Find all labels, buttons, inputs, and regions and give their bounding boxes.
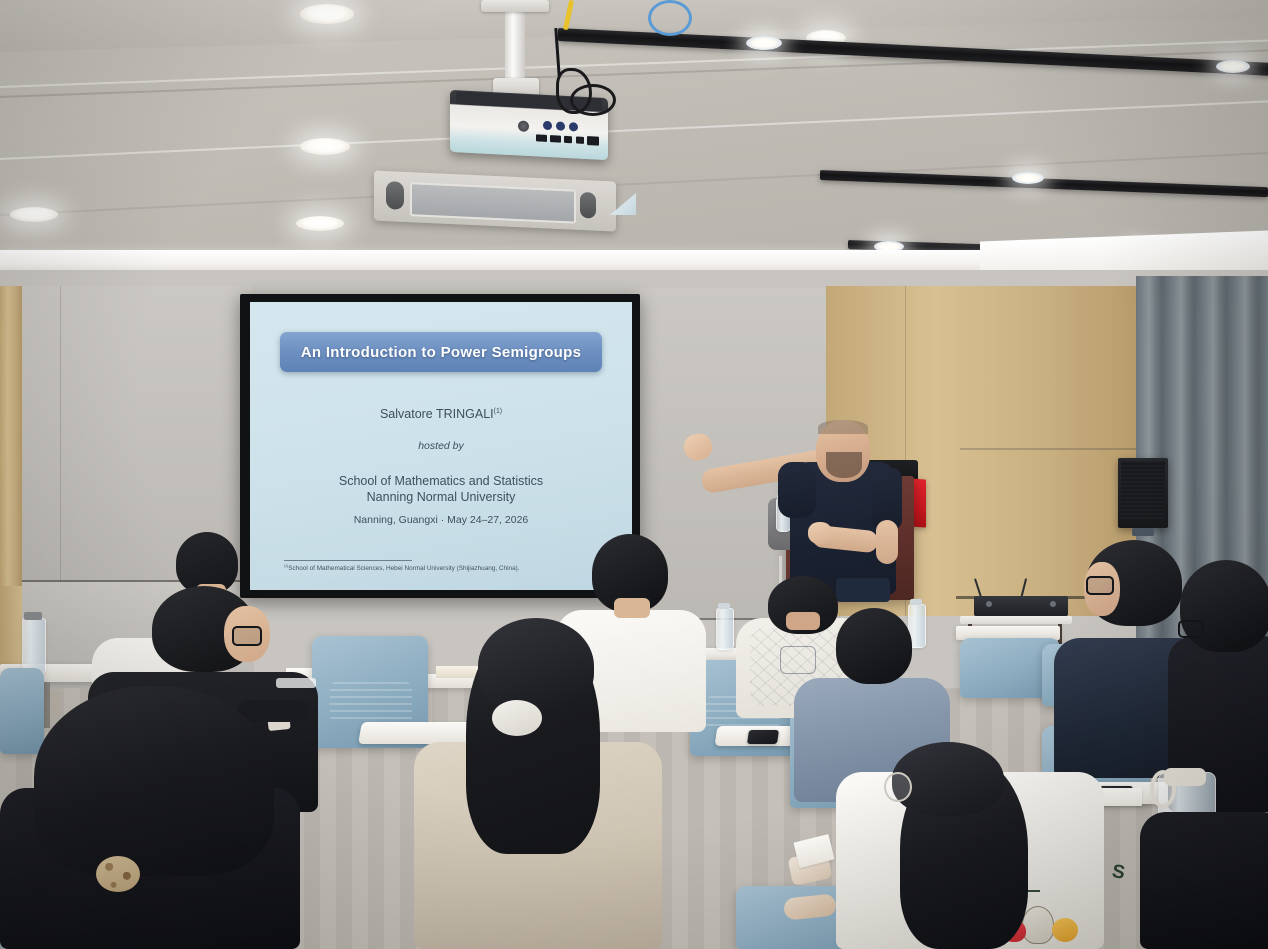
student-neck xyxy=(786,612,820,630)
blue-cable-coil xyxy=(648,0,692,36)
projector-mount-pole xyxy=(505,6,525,80)
chair-vent xyxy=(330,682,412,724)
projector-port xyxy=(556,121,565,130)
projector-port xyxy=(550,135,561,143)
water-bottle[interactable] xyxy=(716,608,734,650)
chair-back[interactable] xyxy=(0,668,44,754)
glasses xyxy=(1178,620,1204,638)
slide-title-text: An Introduction to Power Semigroups xyxy=(301,344,582,361)
student-torso xyxy=(1140,812,1268,949)
projector-port xyxy=(569,122,578,131)
slide-institution-line2: Nanning Normal University xyxy=(250,490,632,504)
desk-leg xyxy=(44,682,50,728)
student-neck xyxy=(614,598,650,618)
presenter-forearm xyxy=(876,520,898,564)
glasses xyxy=(1086,576,1114,595)
slide-speaker-label: Salvatore TRINGALI xyxy=(380,407,494,421)
water-bottle[interactable] xyxy=(22,618,46,674)
slide-footnote-rule xyxy=(284,560,412,561)
shirt-graphic-orange xyxy=(1052,918,1078,942)
presenter-hairline xyxy=(818,420,868,434)
projector-port xyxy=(536,134,547,142)
hair-scrunchie xyxy=(96,856,140,892)
presenter-beard xyxy=(826,452,862,478)
slide-footnote-text: School of Mathematical Sciences, Hebei N… xyxy=(288,565,519,572)
student-hair xyxy=(836,608,912,684)
projector-port xyxy=(587,136,599,146)
projector-cable xyxy=(570,84,616,116)
glasses xyxy=(232,626,262,646)
slide-title-bar: An Introduction to Power Semigroups xyxy=(280,332,602,372)
slide-speaker-marker: (1) xyxy=(494,408,502,415)
presenter-hand xyxy=(808,522,832,544)
ceiling-downlight xyxy=(300,138,350,155)
ac-vane xyxy=(580,192,596,219)
bottle-handle xyxy=(1150,770,1176,808)
shirt-graphic xyxy=(780,646,816,674)
tablet-arm-desk[interactable] xyxy=(358,722,472,744)
wall-seam xyxy=(60,286,61,586)
ceiling-downlight xyxy=(300,4,354,24)
track-light-lamp xyxy=(746,36,782,50)
student-arm xyxy=(238,700,308,722)
projector-port xyxy=(564,136,572,143)
projector-port xyxy=(576,136,584,143)
earring xyxy=(884,772,912,802)
ceiling-downlight xyxy=(296,216,344,231)
water-bottle-cap xyxy=(24,612,42,620)
av-receiver-knob[interactable] xyxy=(986,601,992,607)
wall-speaker xyxy=(1118,458,1168,528)
slide-hosted-by: hosted by xyxy=(250,440,632,452)
ac-grille xyxy=(410,182,576,224)
slide-footnote: (1)School of Mathematical Sciences, Hebe… xyxy=(284,564,520,572)
track-light-lamp xyxy=(1012,172,1044,184)
presenter-sleeve xyxy=(778,462,816,518)
wall-seam xyxy=(960,448,1136,450)
student-hair xyxy=(34,686,274,876)
shirt-graphic-bowl xyxy=(1022,906,1054,944)
track-light-lamp xyxy=(1216,60,1250,73)
shirt-logo xyxy=(276,678,316,688)
ceiling-downlight xyxy=(10,207,58,222)
projector-ceiling-plate xyxy=(481,0,549,12)
water-bottle-cap xyxy=(910,599,922,605)
ac-vane xyxy=(386,181,404,210)
smartphone[interactable] xyxy=(747,730,779,744)
student-hair-top xyxy=(478,618,594,714)
projector-lens xyxy=(518,120,529,132)
student-hair xyxy=(1180,560,1268,652)
slide-speaker-name: Salvatore TRINGALI(1) xyxy=(250,407,632,421)
slide-location-date: Nanning, Guangxi · May 24–27, 2026 xyxy=(250,514,632,526)
av-receiver-knob[interactable] xyxy=(1050,601,1056,607)
presenter-trousers xyxy=(836,578,890,602)
water-bottle-cap xyxy=(718,603,730,609)
slide-institution-line1: School of Mathematics and Statistics xyxy=(250,474,632,488)
lecture-hall-photo: An Introduction to Power Semigroups Salv… xyxy=(0,0,1268,949)
wall-wood-panel xyxy=(0,286,22,586)
av-table-top xyxy=(960,616,1072,624)
projector-port xyxy=(543,121,552,130)
speaker-grille xyxy=(1121,461,1165,519)
hair-scrunchie xyxy=(492,700,542,736)
presentation-slide: An Introduction to Power Semigroups Salv… xyxy=(250,302,632,590)
speaker-bracket xyxy=(1132,528,1154,536)
